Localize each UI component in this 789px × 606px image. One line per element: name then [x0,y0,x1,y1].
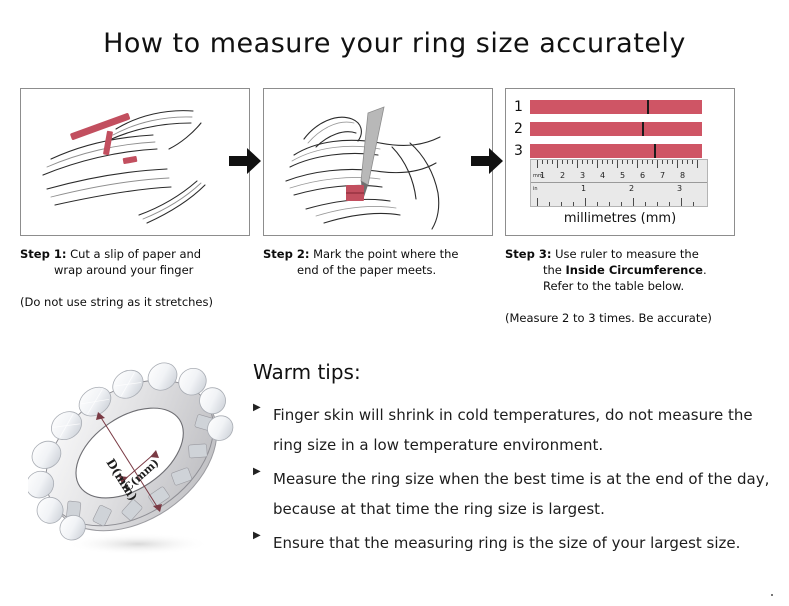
warm-tips-heading: Warm tips: [253,360,773,384]
step-1-line1: Cut a slip of paper and [70,247,201,261]
ruler-tick-label: 4 [600,172,605,180]
step-1-label: Step 1: [20,247,66,261]
step-3-note: (Measure 2 to 3 times. Be accurate) [505,310,737,326]
step-2-panel [263,88,493,236]
strip-mark [647,100,649,114]
strip-row: 2 [514,120,728,138]
measured-strips-group: 1 2 3 [514,98,728,164]
strip-row: 1 [514,98,728,116]
step-3-label: Step 3: [505,247,551,261]
bullet-triangle-icon: ▶ [253,400,273,413]
step-2-line2: end of the paper meets. [263,262,495,278]
step-1-caption: Step 1: Cut a slip of paper and wrap aro… [20,246,252,278]
arrow-right-icon-1 [227,144,263,178]
step-1-column: Step 1: Cut a slip of paper and wrap aro… [20,88,252,310]
steps-row: Step 1: Cut a slip of paper and wrap aro… [0,88,789,338]
step-3-line3: Refer to the table below. [505,278,737,294]
ruler-tick-label: 7 [660,172,665,180]
ruler-icon: mm 1 2 3 4 5 6 7 8 [530,159,708,207]
strip-row: 3 [514,142,728,160]
step-2-column: Step 2: Mark the point where the end of … [263,88,495,278]
corner-artifact-dot [771,594,773,596]
ruler-tick-label: 5 [620,172,625,180]
step-3-column: 1 2 3 [505,88,737,326]
tip-text: Measure the ring size when the best time… [273,464,773,524]
hand-with-paper-strip-icon [21,89,250,236]
step-3-line1: Use ruler to measure the [555,247,699,261]
bullet-triangle-icon: ▶ [253,464,273,477]
step-3-panel: 1 2 3 [505,88,735,236]
tip-item: ▶ Ensure that the measuring ring is the … [253,528,773,558]
ring-diagram: D(mm) C(mm) [28,358,243,568]
tip-text: Ensure that the measuring ring is the si… [273,528,773,558]
step-3-line2-post: . [703,263,707,277]
strip-bar [530,122,702,136]
strip-mark [654,144,656,158]
ruler-tick-label: 3 [580,172,585,180]
tip-text: Finger skin will shrink in cold temperat… [273,400,773,460]
strip-bar [530,100,702,114]
step-2-line1: Mark the point where the [313,247,458,261]
step-3-emphasis: Inside Circumference [566,263,703,277]
ruler-tick-label: 3 [677,185,682,193]
arrow-right-icon-2 [469,144,505,178]
tip-item: ▶ Measure the ring size when the best ti… [253,464,773,524]
strip-number: 3 [514,144,530,158]
strip-number: 2 [514,122,530,136]
ruler-tick-label: 1 [581,185,586,193]
step-1-panel [20,88,250,236]
strip-bar [530,144,702,158]
ruler-unit-bottom: in [533,185,538,193]
bullet-triangle-icon: ▶ [253,528,273,541]
warm-tips-block: Warm tips: ▶ Finger skin will shrink in … [253,360,773,562]
step-1-note: (Do not use string as it stretches) [20,294,252,310]
ruler-imperial-scale: in 1 2 3 [531,183,707,206]
step-3-line2: the Inside Circumference. [505,262,737,278]
step-1-line2: wrap around your finger [20,262,252,278]
ruler-tick-label: 8 [680,172,685,180]
ruler-unit-label: millimetres (mm) [506,211,734,226]
step-2-caption: Step 2: Mark the point where the end of … [263,246,495,278]
ruler-tick-label: 1 [540,172,545,180]
strip-number: 1 [514,100,530,114]
diamond-ring-icon: D(mm) C(mm) [28,358,243,568]
ruler-tick-label: 2 [629,185,634,193]
strip-mark [642,122,644,136]
ruler-metric-scale: mm 1 2 3 4 5 6 7 8 [531,160,707,183]
page-title: How to measure your ring size accurately [0,28,789,59]
bottom-section: D(mm) C(mm) Warm tips: ▶ Finger skin wil… [0,348,789,606]
ruler-tick-label: 2 [560,172,565,180]
step-3-line2-pre: the [543,263,566,277]
step-3-caption: Step 3: Use ruler to measure the the Ins… [505,246,737,294]
hands-marking-paper-icon [264,89,493,236]
tip-item: ▶ Finger skin will shrink in cold temper… [253,400,773,460]
ruler-tick-label: 6 [640,172,645,180]
step-2-label: Step 2: [263,247,309,261]
